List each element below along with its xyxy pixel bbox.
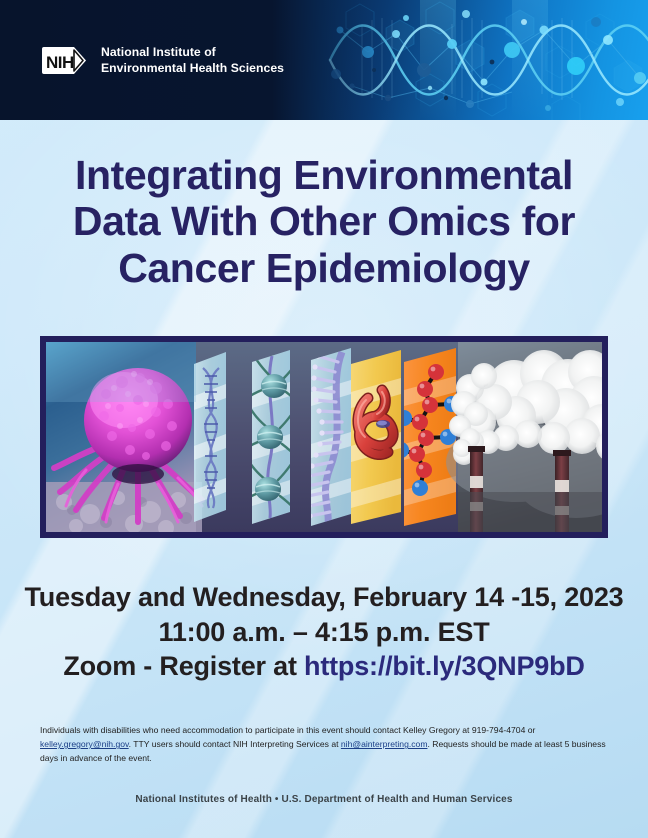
page-title: Integrating Environmental Data With Othe… <box>24 152 624 291</box>
smokestack-photo <box>446 350 602 532</box>
nih-logo: NIH National Institute ofEnvironmental H… <box>42 44 284 77</box>
accessibility-notice: Individuals with disabilities who need a… <box>40 723 610 766</box>
nih-org-line-2: Environmental Health Sciences <box>101 61 284 75</box>
svg-text:NIH: NIH <box>46 53 74 72</box>
title-line-2: Data With Other Omics for <box>24 198 624 244</box>
poster-canvas: NIH National Institute ofEnvironmental H… <box>0 0 648 838</box>
dna-helix-panel <box>194 352 226 522</box>
event-dates: Tuesday and Wednesday, February 14 -15, … <box>24 580 624 615</box>
nih-organization-name: National Institute ofEnvironmental Healt… <box>101 45 284 76</box>
event-details: Tuesday and Wednesday, February 14 -15, … <box>24 580 624 684</box>
nih-org-line-1: National Institute of <box>101 45 216 59</box>
accessibility-text-part-1: Individuals with disabilities who need a… <box>40 725 535 735</box>
registration-prefix: Zoom - Register at <box>63 651 304 681</box>
protein-panel <box>351 350 401 524</box>
event-time: 11:00 a.m. – 4:15 p.m. EST <box>24 615 624 650</box>
accessibility-text-part-2: . TTY users should contact NIH Interpret… <box>129 739 341 749</box>
contact-email-link[interactable]: kelley.gregory@nih.gov <box>40 739 129 749</box>
interpreting-email-link[interactable]: nih@ainterpreting.com <box>341 739 428 749</box>
header-band: NIH National Institute ofEnvironmental H… <box>0 0 648 120</box>
rna-strand-panel <box>305 348 351 526</box>
hero-image <box>40 336 608 538</box>
registration-link[interactable]: https://bit.ly/3QNP9bD <box>304 651 585 681</box>
event-registration: Zoom - Register at https://bit.ly/3QNP9b… <box>24 649 624 684</box>
nih-mark-icon: NIH <box>42 44 88 77</box>
title-line-1: Integrating Environmental <box>24 152 624 198</box>
title-line-3: Cancer Epidemiology <box>24 245 624 291</box>
hero-illustration <box>46 342 602 532</box>
agency-footer: National Institutes of Health • U.S. Dep… <box>24 794 624 805</box>
